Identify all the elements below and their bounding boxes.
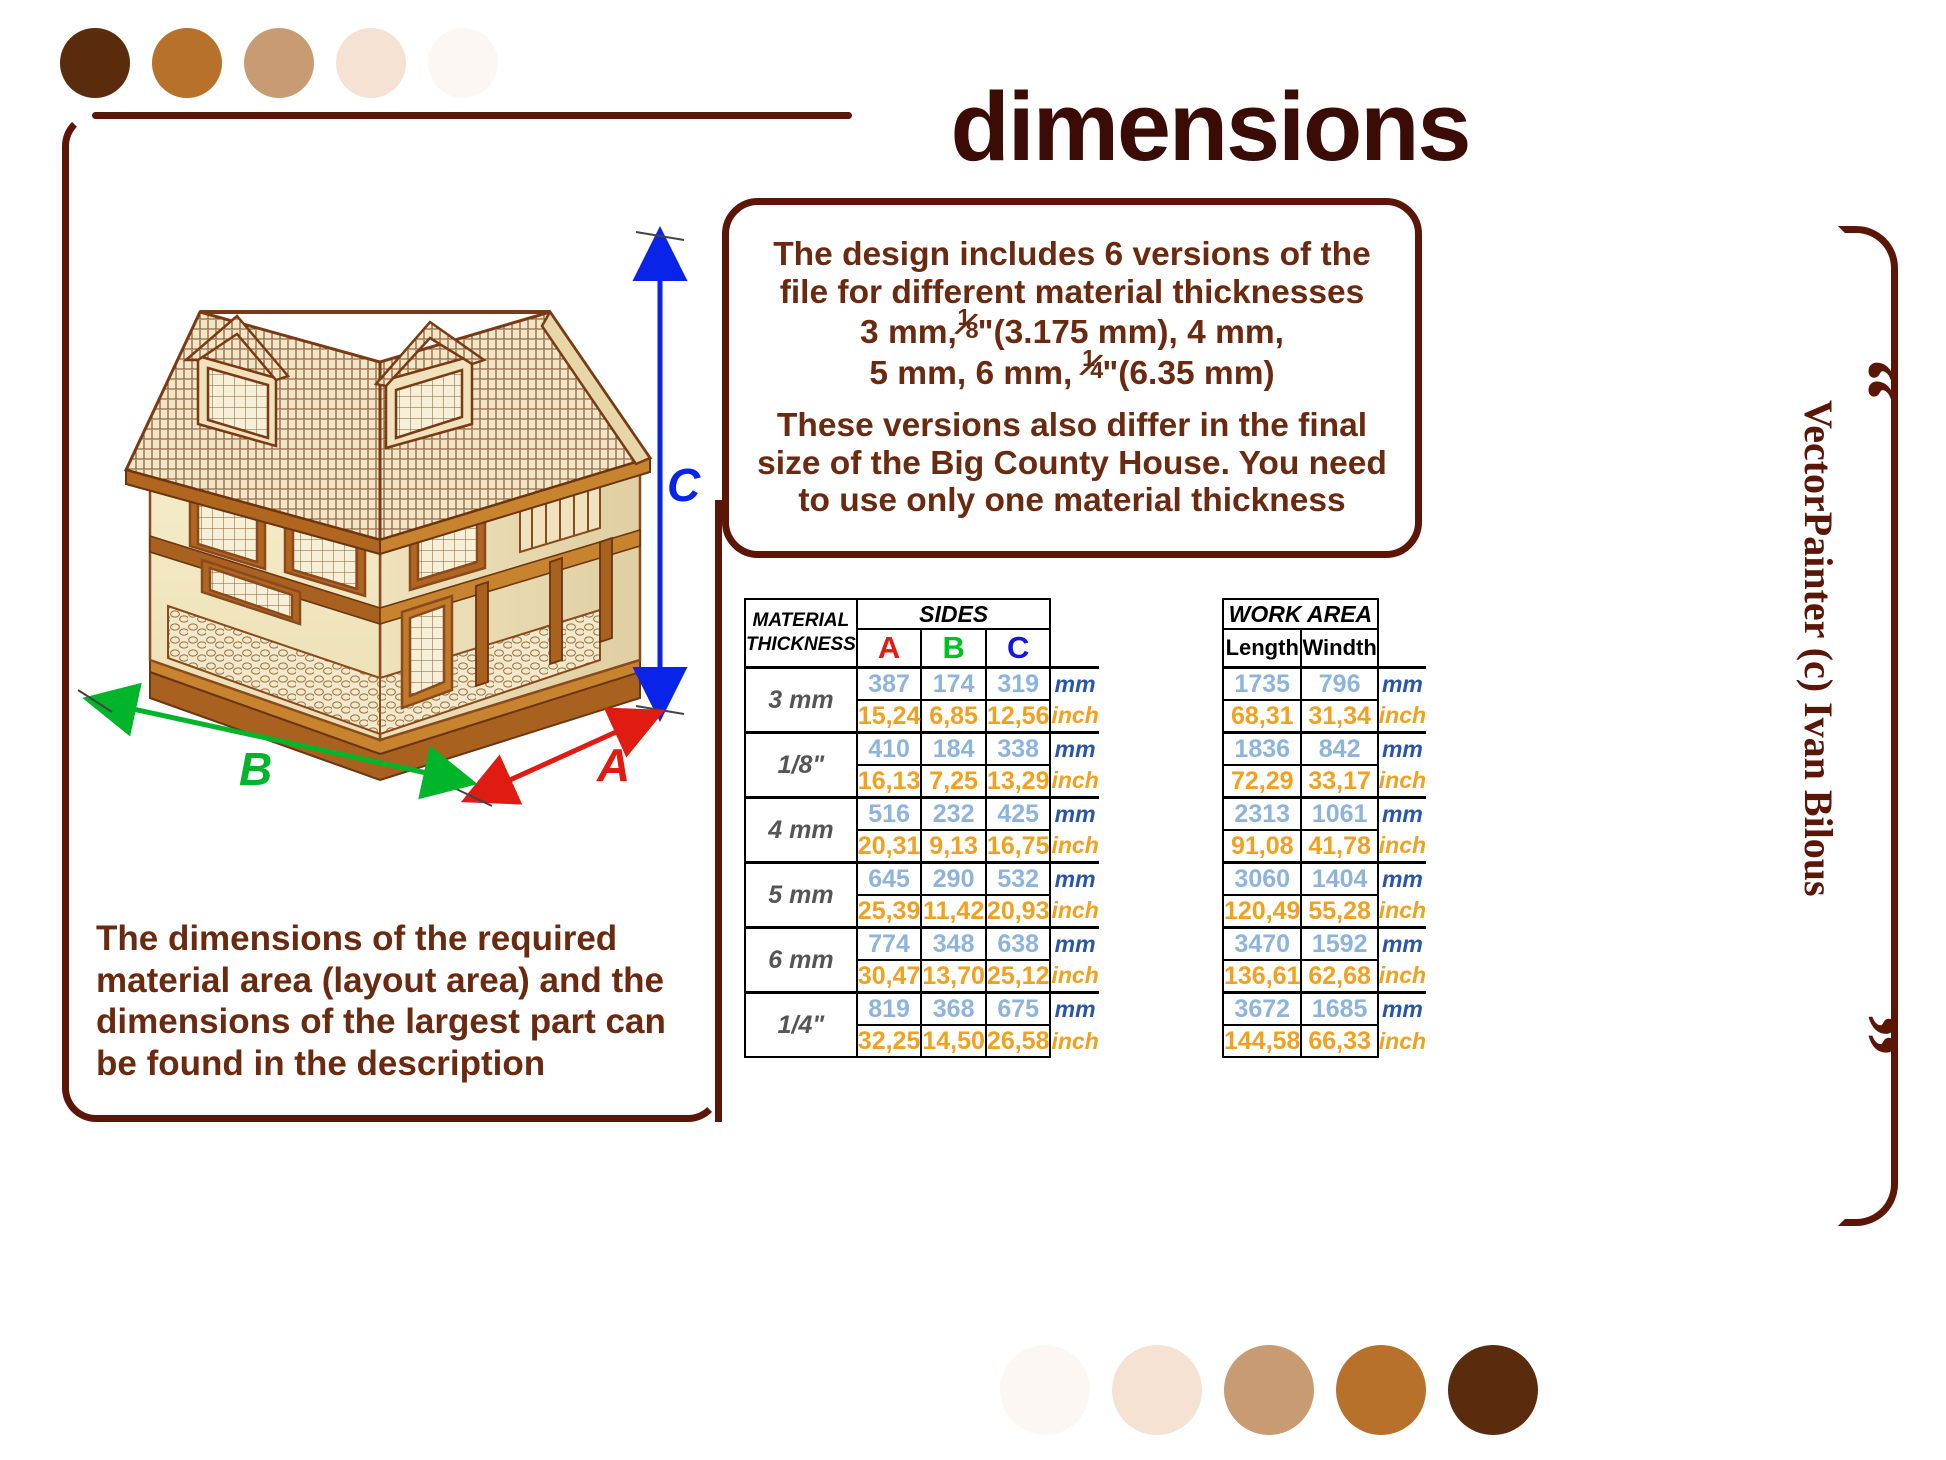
- table-row: 2313 1061 mm: [1223, 798, 1426, 831]
- sides-thickness: 6 mm: [745, 928, 857, 993]
- work-area-cell: 3672: [1223, 993, 1301, 1026]
- unit-label-inch: inch: [1378, 1025, 1426, 1057]
- palette-swatch: [152, 28, 222, 98]
- sides-thickness: 3 mm: [745, 668, 857, 733]
- work-area-cell: 3060: [1223, 863, 1301, 896]
- table-row: 1/4" 819 368 675 mm: [745, 993, 1099, 1026]
- sides-thickness: 1/8": [745, 733, 857, 798]
- palette-swatch: [244, 28, 314, 98]
- unit-label-inch: inch: [1050, 1025, 1098, 1057]
- sides-cell: 368: [921, 993, 986, 1026]
- sides-cell: 819: [857, 993, 922, 1026]
- sides-cell: 16,13: [857, 765, 922, 798]
- work-area-cell: 91,08: [1223, 830, 1301, 863]
- info-line-4-pre: 5 mm, 6 mm,: [869, 355, 1072, 392]
- dimension-label-b: B: [239, 742, 272, 796]
- sides-col-b: B: [921, 629, 986, 668]
- info-line-2: file for different material thicknesses: [780, 274, 1365, 311]
- unit-label-inch: inch: [1378, 960, 1426, 993]
- fraction-one-eighth: 1⁄8: [957, 311, 978, 345]
- credit-text: VectorPainter (c) Ivan Bilous: [1795, 400, 1842, 1060]
- unit-label-mm: mm: [1378, 798, 1426, 831]
- table-row: 136,61 62,68 inch: [1223, 960, 1426, 993]
- work-area-cell: 41,78: [1301, 830, 1377, 863]
- unit-label-inch: inch: [1050, 700, 1098, 733]
- info-line-3-post: "(3.175 mm), 4 mm,: [978, 314, 1284, 351]
- work-area-cell: 33,17: [1301, 765, 1377, 798]
- unit-label-mm: mm: [1378, 928, 1426, 961]
- info-line-1: The design includes 6 versions of the: [773, 236, 1371, 273]
- palette-swatch: [336, 28, 406, 98]
- work-area-table: WORK AREA Length Windth 1735 796 mm 68,3…: [1222, 598, 1426, 1058]
- house-illustration: [80, 220, 680, 820]
- unit-label-mm: mm: [1050, 928, 1098, 961]
- table-row: 3060 1404 mm: [1223, 863, 1426, 896]
- sides-cell: 645: [857, 863, 922, 896]
- sides-cell: 6,85: [921, 700, 986, 733]
- description-line-2: material area (layout area) and the: [96, 961, 664, 1000]
- work-area-cell: 55,28: [1301, 895, 1377, 928]
- info-p2-line-1: These versions also differ in the final: [777, 407, 1367, 444]
- unit-label-inch: inch: [1378, 765, 1426, 798]
- info-paragraph-1: The design includes 6 versions of the fi…: [773, 236, 1371, 393]
- work-area-cell: 62,68: [1301, 960, 1377, 993]
- sides-cell: 15,24: [857, 700, 922, 733]
- info-p2-line-3: to use only one material thickness: [798, 482, 1345, 519]
- work-area-cell: 136,61: [1223, 960, 1301, 993]
- sides-cell: 13,70: [921, 960, 986, 993]
- sides-cell: 25,39: [857, 895, 922, 928]
- sides-cell: 7,25: [921, 765, 986, 798]
- sides-group-header: SIDES: [857, 599, 1051, 629]
- sides-cell: 20,31: [857, 830, 922, 863]
- work-area-cell: 1592: [1301, 928, 1377, 961]
- table-row: 144,58 66,33 inch: [1223, 1025, 1426, 1057]
- info-box: The design includes 6 versions of the fi…: [722, 198, 1422, 558]
- description-line-3: dimensions of the largest part can: [96, 1002, 666, 1041]
- info-line-3-pre: 3 mm,: [860, 314, 957, 351]
- sides-cell: 14,50: [921, 1025, 986, 1057]
- sides-row-header-l1: MATERIAL: [746, 609, 856, 633]
- page-title: dimensions: [930, 78, 1490, 175]
- dimension-label-c: C: [667, 458, 700, 512]
- work-area-cell: 2313: [1223, 798, 1301, 831]
- unit-label-mm: mm: [1050, 733, 1098, 766]
- table-row: 72,29 33,17 inch: [1223, 765, 1426, 798]
- sides-thickness: 5 mm: [745, 863, 857, 928]
- frame-top-rule: [92, 112, 852, 119]
- sides-cell: 425: [986, 798, 1051, 831]
- sides-col-c: C: [986, 629, 1051, 668]
- sides-cell: 25,12: [986, 960, 1051, 993]
- sides-table: MATERIAL THICKNESS SIDES A B C 3 mm 387 …: [744, 598, 1099, 1058]
- palette-swatch: [428, 28, 498, 98]
- sides-cell: 174: [921, 668, 986, 701]
- work-area-cell: 31,34: [1301, 700, 1377, 733]
- info-paragraph-2: These versions also differ in the final …: [757, 407, 1387, 521]
- work-area-cell: 796: [1301, 668, 1377, 701]
- unit-label-inch: inch: [1378, 895, 1426, 928]
- sides-cell: 338: [986, 733, 1051, 766]
- sides-cell: 410: [857, 733, 922, 766]
- sides-cell: 675: [986, 993, 1051, 1026]
- sides-cell: 184: [921, 733, 986, 766]
- work-area-cell: 842: [1301, 733, 1377, 766]
- work-area-cell: 1735: [1223, 668, 1301, 701]
- sides-cell: 638: [986, 928, 1051, 961]
- table-row: 1836 842 mm: [1223, 733, 1426, 766]
- table-row: 91,08 41,78 inch: [1223, 830, 1426, 863]
- unit-label-mm: mm: [1378, 668, 1426, 701]
- sides-thickness: 4 mm: [745, 798, 857, 863]
- table-row: 4 mm 516 232 425 mm: [745, 798, 1099, 831]
- sides-cell: 532: [986, 863, 1051, 896]
- unit-label-inch: inch: [1378, 830, 1426, 863]
- work-area-cell: 1685: [1301, 993, 1377, 1026]
- dimension-label-a: A: [597, 738, 630, 792]
- work-area-col-length: Length: [1223, 629, 1301, 668]
- palette-swatch: [1112, 1345, 1202, 1435]
- unit-label-mm: mm: [1050, 798, 1098, 831]
- work-area-cell: 1836: [1223, 733, 1301, 766]
- sides-row-header: MATERIAL THICKNESS: [745, 599, 857, 668]
- unit-label-mm: mm: [1050, 993, 1098, 1026]
- table-row: 3 mm 387 174 319 mm: [745, 668, 1099, 701]
- table-row: 5 mm 645 290 532 mm: [745, 863, 1099, 896]
- work-area-cell: 1404: [1301, 863, 1377, 896]
- sides-cell: 26,58: [986, 1025, 1051, 1057]
- sides-thickness: 1/4": [745, 993, 857, 1058]
- table-row: 1/8" 410 184 338 mm: [745, 733, 1099, 766]
- palette-swatch: [1000, 1345, 1090, 1435]
- sides-cell: 319: [986, 668, 1051, 701]
- color-palette-bottom: [1000, 1345, 1538, 1435]
- palette-swatch: [1336, 1345, 1426, 1435]
- work-area-col-width: Windth: [1301, 629, 1377, 668]
- table-row: 120,49 55,28 inch: [1223, 895, 1426, 928]
- fraction-one-quarter: 1⁄4: [1082, 352, 1103, 386]
- unit-label-mm: mm: [1378, 863, 1426, 896]
- sides-cell: 30,47: [857, 960, 922, 993]
- table-row: 3470 1592 mm: [1223, 928, 1426, 961]
- work-area-cell: 66,33: [1301, 1025, 1377, 1057]
- unit-label-inch: inch: [1050, 765, 1098, 798]
- sides-col-a: A: [857, 629, 922, 668]
- table-row: 68,31 31,34 inch: [1223, 700, 1426, 733]
- sides-cell: 20,93: [986, 895, 1051, 928]
- sides-cell: 11,42: [921, 895, 986, 928]
- work-area-cell: 3470: [1223, 928, 1301, 961]
- table-row: 1735 796 mm: [1223, 668, 1426, 701]
- unit-label-mm: mm: [1050, 863, 1098, 896]
- table-row: 3672 1685 mm: [1223, 993, 1426, 1026]
- sides-cell: 516: [857, 798, 922, 831]
- quote-close-icon: ”: [1817, 1014, 1917, 1057]
- sides-cell: 16,75: [986, 830, 1051, 863]
- table-row: 6 mm 774 348 638 mm: [745, 928, 1099, 961]
- sides-cell: 13,29: [986, 765, 1051, 798]
- sides-row-header-l2: THICKNESS: [746, 633, 856, 657]
- sides-cell: 12,56: [986, 700, 1051, 733]
- unit-label-inch: inch: [1378, 700, 1426, 733]
- description-line-4: be found in the description: [96, 1044, 545, 1083]
- unit-label-mm: mm: [1378, 733, 1426, 766]
- unit-label-mm: mm: [1050, 668, 1098, 701]
- quote-open-icon: “: [1817, 359, 1917, 402]
- description-note: The dimensions of the required material …: [96, 918, 716, 1085]
- sides-cell: 774: [857, 928, 922, 961]
- info-p2-line-2: size of the Big County House. You need: [757, 445, 1387, 482]
- left-frame-right-edge: [715, 500, 722, 1122]
- sides-cell: 387: [857, 668, 922, 701]
- palette-swatch: [60, 28, 130, 98]
- color-palette-top: [60, 28, 498, 98]
- unit-label-mm: mm: [1378, 993, 1426, 1026]
- sides-cell: 232: [921, 798, 986, 831]
- unit-label-inch: inch: [1050, 895, 1098, 928]
- sides-cell: 32,25: [857, 1025, 922, 1057]
- work-area-cell: 144,58: [1223, 1025, 1301, 1057]
- info-line-4-post: "(6.35 mm): [1102, 355, 1274, 392]
- palette-swatch: [1224, 1345, 1314, 1435]
- palette-swatch: [1448, 1345, 1538, 1435]
- work-area-cell: 120,49: [1223, 895, 1301, 928]
- sides-cell: 290: [921, 863, 986, 896]
- description-line-1: The dimensions of the required: [96, 919, 617, 958]
- work-area-cell: 68,31: [1223, 700, 1301, 733]
- unit-label-inch: inch: [1050, 830, 1098, 863]
- work-area-cell: 72,29: [1223, 765, 1301, 798]
- sides-cell: 348: [921, 928, 986, 961]
- work-area-cell: 1061: [1301, 798, 1377, 831]
- unit-label-inch: inch: [1050, 960, 1098, 993]
- sides-cell: 9,13: [921, 830, 986, 863]
- work-area-group-header: WORK AREA: [1223, 599, 1378, 629]
